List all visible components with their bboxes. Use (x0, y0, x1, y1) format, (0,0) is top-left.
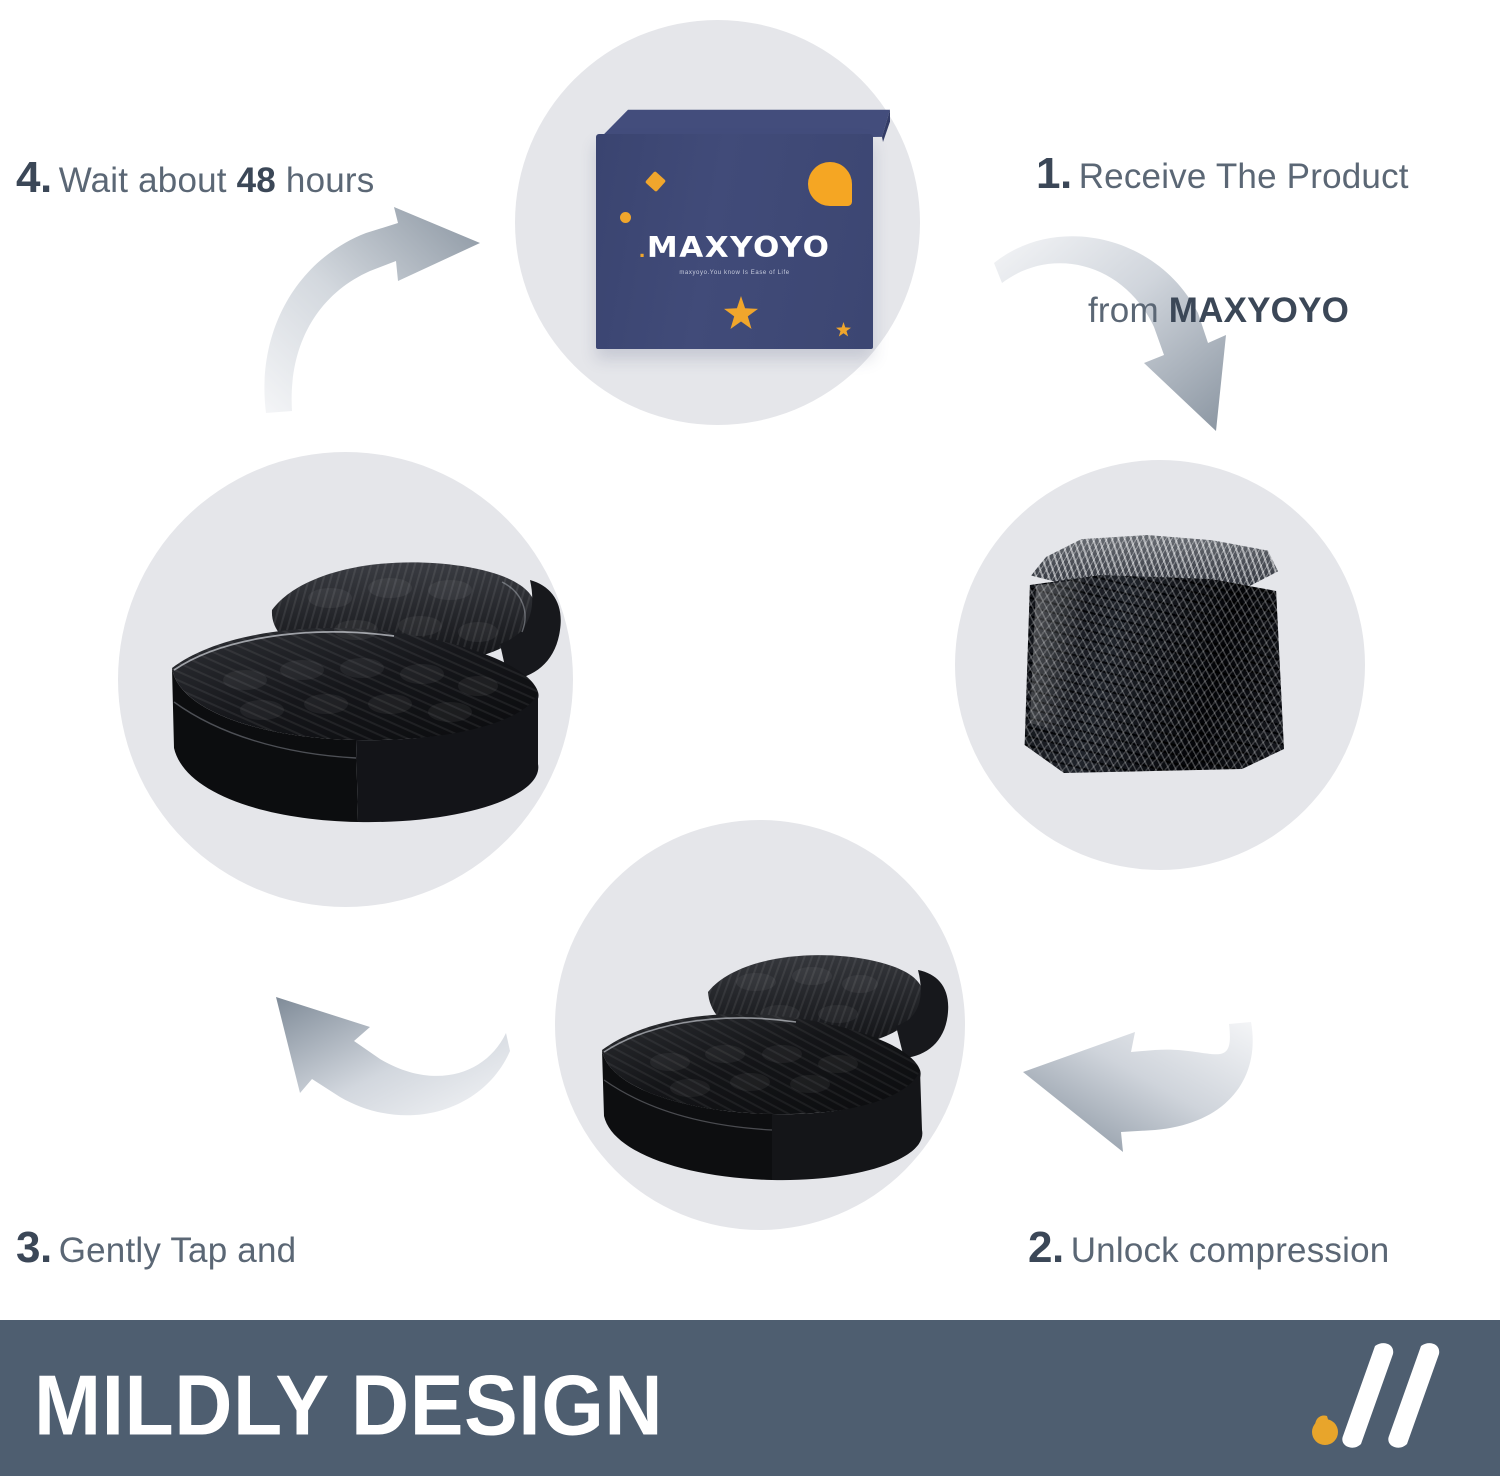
step-2-number: 2. (1028, 1223, 1064, 1272)
box-brand-text: MAXYOYO (647, 231, 831, 264)
step-4-number: 4. (16, 153, 52, 202)
step-1-line2-brand: MAXYOYO (1169, 291, 1349, 330)
step-4-line1-suffix: hours (276, 161, 374, 200)
floor-sofa-with-backrest-image (150, 520, 580, 850)
compressed-foam-image (1022, 535, 1292, 780)
product-box-image: .MAXYOYO maxyoyo.You know Is Ease of Lif… (590, 108, 890, 353)
maxyoyo-m-logo-icon (1303, 1340, 1478, 1456)
banner-title: MILDLY DESIGN (34, 1364, 663, 1449)
step-4-line1-prefix: Wait about (59, 161, 237, 200)
bottom-banner: MILDLY DESIGN (0, 1320, 1500, 1476)
deco-square-icon (645, 171, 666, 192)
logo-stroke-left (1342, 1343, 1393, 1448)
deco-dot-icon (620, 212, 631, 223)
deco-star-icon (724, 296, 758, 330)
step-1-line2-prefix: from (1088, 291, 1169, 330)
arrow-step-4-to-1 (248, 185, 538, 415)
step-4-hours-value: 48 (237, 161, 276, 200)
box-front-face: .MAXYOYO maxyoyo.You know Is Ease of Lif… (596, 134, 873, 349)
foam-body (1022, 573, 1284, 773)
step-1-caption: 1.Receive The Product from MAXYOYO (1036, 104, 1466, 332)
arrow-step-3-to-4 (248, 925, 548, 1165)
box-brand-tagline: maxyoyo.You know Is Ease of Life (596, 270, 873, 276)
deco-ball-icon (808, 162, 852, 206)
step-3-line1: Gently Tap and (59, 1231, 297, 1270)
step-2-line1: Unlock compression (1071, 1231, 1390, 1270)
floor-sofa-unfolded-image (560, 930, 955, 1195)
infographic-stage: .MAXYOYO maxyoyo.You know Is Ease of Lif… (0, 0, 1500, 1310)
arrow-step-2-to-3 (1015, 1020, 1275, 1195)
box-brand-lead-dot: . (639, 242, 647, 261)
box-brand-block: .MAXYOYO maxyoyo.You know Is Ease of Lif… (596, 230, 873, 276)
step-1-line1: Receive The Product (1079, 157, 1409, 196)
logo-stroke-right (1388, 1343, 1439, 1448)
step-4-caption: 4.Wait about 48 hours (16, 108, 476, 206)
box-brand-mark: .MAXYOYO (596, 231, 873, 264)
deco-star-small-icon (836, 322, 851, 337)
step-3-number: 3. (16, 1223, 52, 1272)
step-1-number: 1. (1036, 149, 1072, 198)
